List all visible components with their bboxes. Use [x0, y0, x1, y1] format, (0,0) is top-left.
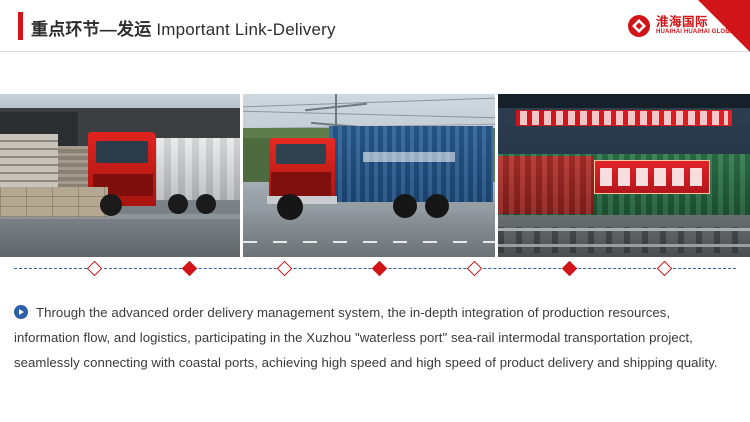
- timeline-divider: [14, 268, 736, 270]
- header-divider: [0, 51, 750, 52]
- timeline-node: [657, 261, 673, 277]
- body-block: Through the advanced order delivery mana…: [14, 300, 736, 375]
- logo-text: 淮海国际 HUAIHAI HUAIHAI GLOBAL: [656, 16, 738, 35]
- photo-strip: [0, 94, 750, 257]
- page-title-en: Important Link-Delivery: [156, 20, 335, 39]
- photo-rail-container-train: [498, 94, 750, 257]
- timeline-node: [467, 261, 483, 277]
- play-arrow-bullet-icon: [14, 305, 28, 319]
- timeline-node: [372, 261, 388, 277]
- slide-header: 重点环节—发运 Important Link-Delivery 淮海国际 HUA…: [0, 0, 750, 52]
- body-paragraph: Through the advanced order delivery mana…: [14, 300, 736, 375]
- logo-name-cn: 淮海国际: [656, 16, 738, 29]
- photo-red-truck-loading-dock: [0, 94, 240, 257]
- page-title-cn: 重点环节—发运: [31, 20, 151, 39]
- slide: 重点环节—发运 Important Link-Delivery 淮海国际 HUA…: [0, 0, 750, 422]
- logo-mark-icon: [627, 14, 651, 38]
- timeline-node: [87, 261, 103, 277]
- timeline-node: [277, 261, 293, 277]
- header-accent-bar: [18, 12, 23, 40]
- timeline-node: [182, 261, 198, 277]
- company-logo: 淮海国际 HUAIHAI HUAIHAI GLOBAL: [627, 11, 738, 41]
- photo-blue-container-truck: [243, 94, 495, 257]
- page-title: 重点环节—发运 Important Link-Delivery: [31, 15, 336, 40]
- logo-name-en: HUAIHAI HUAIHAI GLOBAL: [656, 29, 738, 35]
- timeline-node: [562, 261, 578, 277]
